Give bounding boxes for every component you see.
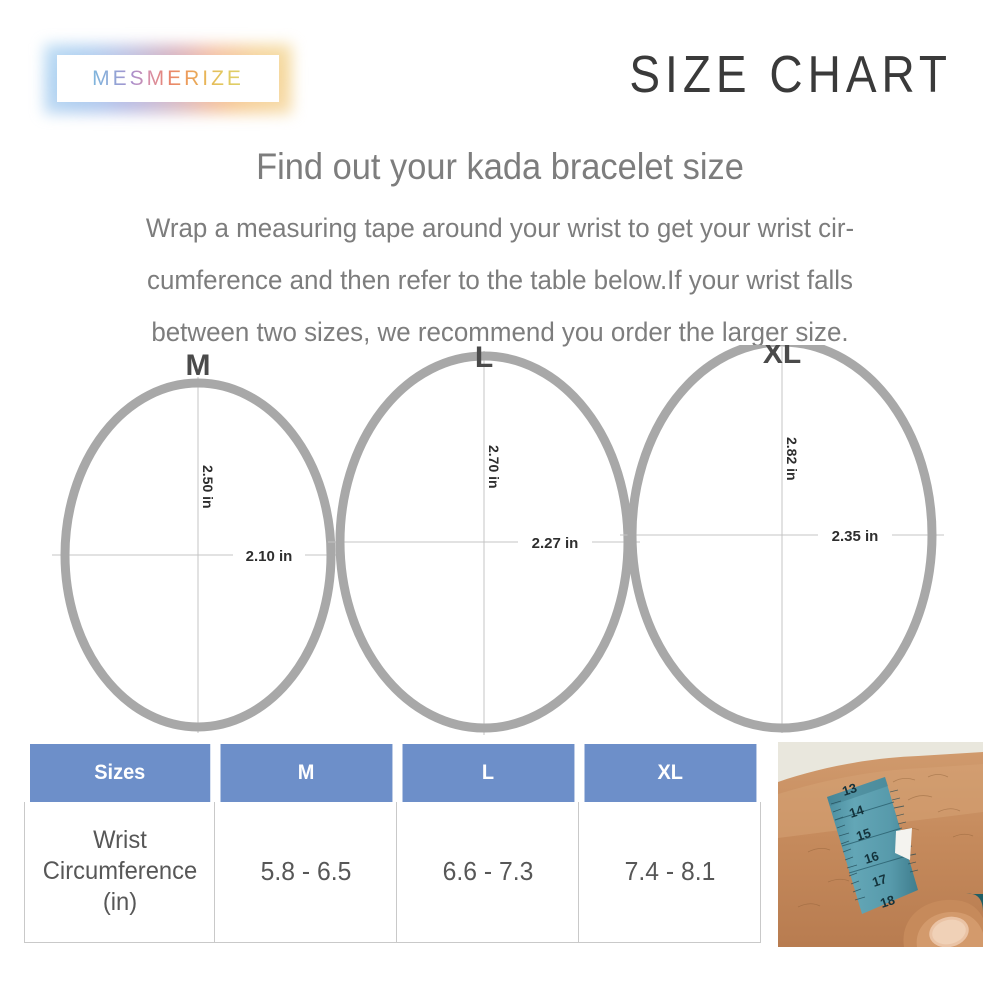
oval-diagram-l: L 2.70 in 2.27 in bbox=[328, 345, 640, 735]
oval-m-width-label: 2.10 in bbox=[246, 548, 293, 565]
cell-m-range: 5.8 - 6.5 bbox=[219, 802, 392, 942]
intro-line-2: cumference and then refer to the table b… bbox=[68, 254, 932, 306]
section-heading: Find out your kada bracelet size bbox=[35, 146, 965, 188]
row-label-line-3: (in) bbox=[30, 887, 210, 918]
oval-l-height-label: 2.70 in bbox=[486, 445, 502, 489]
oval-m-height-label: 2.50 in bbox=[200, 465, 216, 509]
oval-diagram-m: M 2.50 in 2.10 in bbox=[52, 349, 344, 733]
row-label-line-2: Circumference bbox=[30, 856, 210, 887]
oval-l-size-label: L bbox=[475, 345, 493, 374]
cell-xl-range: 7.4 - 8.1 bbox=[583, 802, 756, 942]
table-header-row: Sizes M L XL bbox=[25, 744, 761, 802]
oval-diagram-xl: XL 2.82 in 2.35 in bbox=[620, 345, 944, 733]
brand-logo: MESMERIZE bbox=[44, 44, 292, 114]
wrist-measuring-photo: 13 14 15 16 17 18 bbox=[778, 742, 983, 947]
oval-xl-width-label: 2.35 in bbox=[832, 528, 879, 545]
table-row: Wrist Circumference (in) 5.8 - 6.5 6.6 -… bbox=[25, 802, 761, 942]
table-header-l: L bbox=[401, 744, 574, 802]
table-header-m: M bbox=[219, 744, 392, 802]
logo-text: MESMERIZE bbox=[92, 67, 244, 91]
size-chart-page: MESMERIZE SIZE CHART Find out your kada … bbox=[0, 0, 1000, 1000]
cell-l-range: 6.6 - 7.3 bbox=[401, 802, 574, 942]
oval-l-width-label: 2.27 in bbox=[532, 535, 579, 552]
oval-diagram-group: M 2.50 in 2.10 in L 2.70 in 2.27 in bbox=[0, 345, 1000, 740]
oval-xl-size-label: XL bbox=[763, 345, 801, 370]
table-header-sizes: Sizes bbox=[29, 744, 210, 802]
table-header-xl: XL bbox=[583, 744, 756, 802]
intro-paragraph: Wrap a measuring tape around your wrist … bbox=[68, 202, 932, 358]
oval-xl-height-label: 2.82 in bbox=[784, 437, 800, 481]
row-label-wrist-circumference: Wrist Circumference (in) bbox=[29, 802, 210, 942]
page-title: SIZE CHART bbox=[629, 44, 952, 104]
row-label-line-1: Wrist bbox=[30, 825, 210, 856]
intro-line-1: Wrap a measuring tape around your wrist … bbox=[68, 202, 932, 254]
oval-m-size-label: M bbox=[186, 349, 211, 382]
logo-card: MESMERIZE bbox=[57, 55, 279, 102]
size-table: Sizes M L XL Wrist Circumference (in) 5.… bbox=[24, 744, 761, 943]
